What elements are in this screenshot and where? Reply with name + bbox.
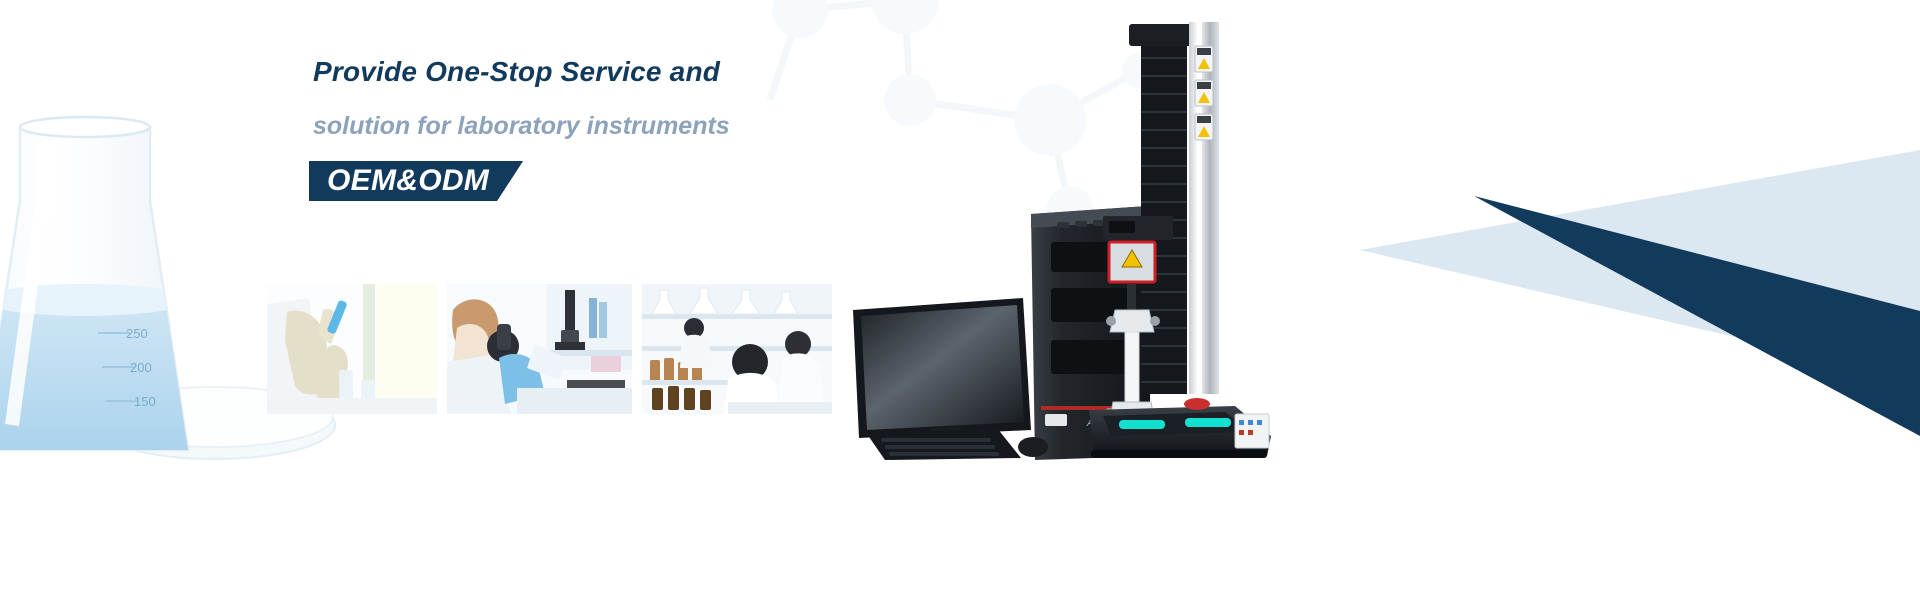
svg-text:150: 150 [134, 394, 156, 409]
light-wedge-shape [1360, 150, 1920, 380]
warning-label-icon [1195, 114, 1213, 140]
hero-banner: 250 200 150 Provide One-Stop Service and… [0, 0, 1920, 597]
photo-microscope-technician [447, 284, 632, 414]
dark-wedge-shape [1474, 196, 1920, 436]
page-title: Provide One-Stop Service and [313, 58, 1013, 86]
svg-text:250: 250 [126, 326, 148, 341]
photo-collage [267, 284, 832, 414]
headline-block: Provide One-Stop Service and solution fo… [313, 58, 1013, 201]
page-subtitle: solution for laboratory instruments [313, 114, 1013, 139]
svg-text:200: 200 [130, 360, 152, 375]
warning-label-icon [1195, 46, 1213, 72]
photo-pipetting-gloves [267, 284, 437, 414]
warning-label-icon [1109, 242, 1155, 282]
warning-label-icon [1195, 80, 1213, 106]
photo-lab-bench-scientists [642, 284, 832, 414]
svg-text:ASUS: ASUS [1086, 417, 1118, 429]
oem-odm-badge: OEM&ODM [309, 161, 523, 201]
oem-odm-badge-label: OEM&ODM [327, 161, 489, 201]
universal-tensile-testing-machine-illustration [1085, 18, 1325, 458]
